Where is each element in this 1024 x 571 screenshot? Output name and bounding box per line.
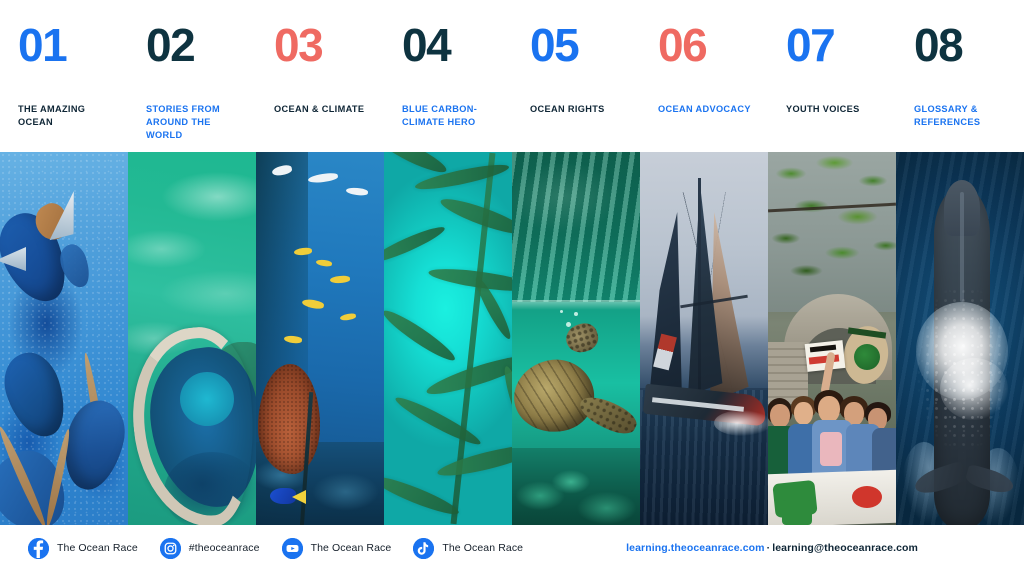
chapter-number-06: 06: [658, 22, 768, 68]
protester-shirt: [820, 432, 842, 466]
social-link-instagram[interactable]: #theoceanrace: [160, 538, 260, 559]
chapter-label-07: YOUTH VOICES: [786, 103, 890, 116]
turtle-flipper-texture: [575, 390, 640, 440]
chapter-image-coral-reef-fish[interactable]: [256, 152, 384, 525]
bubble-shape: [566, 322, 571, 327]
chapter-image-tropical-fish-underwater[interactable]: [0, 152, 128, 525]
chapter-label-04: BLUE CARBON-CLIMATE HERO: [402, 103, 506, 129]
learning-email-link[interactable]: learning@theoceanrace.com: [772, 542, 918, 554]
protester-face: [794, 402, 813, 425]
fish-shape: [330, 275, 350, 283]
chapter-column-08[interactable]: 08 GLOSSARY & REFERENCES: [896, 0, 1024, 152]
facebook-icon[interactable]: [28, 538, 49, 559]
chapter-label-05: OCEAN RIGHTS: [530, 103, 634, 116]
fish-shape: [340, 313, 357, 322]
chapter-label-01: THE AMAZING OCEAN: [18, 103, 122, 129]
social-handle-facebook: The Ocean Race: [57, 542, 138, 554]
chapter-image-humpback-whale-aerial[interactable]: [896, 152, 1024, 525]
chapter-image-strip: [0, 152, 1024, 525]
fish-shape: [346, 187, 369, 196]
chapter-number-04: 04: [402, 22, 512, 68]
chapter-number-05: 05: [530, 22, 640, 68]
protester-face: [770, 404, 790, 428]
kelp-frond-shape: [384, 471, 461, 519]
chapter-column-05[interactable]: 05 OCEAN RIGHTS: [512, 0, 640, 152]
water-surface-texture: [512, 152, 640, 302]
fish-shape: [270, 488, 296, 504]
chapter-label-02: STORIES FROM AROUND THE WORLD: [146, 103, 250, 142]
kelp-frond-shape: [438, 193, 512, 240]
social-link-youtube[interactable]: The Ocean Race: [282, 538, 392, 559]
fish-shape: [294, 247, 313, 256]
chapter-image-kelp-forest[interactable]: [384, 152, 512, 525]
social-handle-youtube: The Ocean Race: [311, 542, 392, 554]
chapter-column-06[interactable]: 06 OCEAN ADVOCACY: [640, 0, 768, 152]
sail-shape: [648, 212, 682, 408]
kelp-frond-shape: [384, 222, 447, 266]
chapter-image-aerial-coastal-lagoon[interactable]: [128, 152, 256, 525]
tree-foliage: [768, 152, 896, 332]
kelp-frond-shape: [392, 392, 483, 449]
mast-shape: [698, 178, 701, 408]
chapter-number-01: 01: [18, 22, 128, 68]
social-link-tiktok[interactable]: The Ocean Race: [413, 538, 523, 559]
chapter-label-08: GLOSSARY & REFERENCES: [914, 103, 1018, 129]
chapter-column-02[interactable]: 02 STORIES FROM AROUND THE WORLD: [128, 0, 256, 152]
kelp-frond-shape: [384, 152, 450, 178]
fish-shape: [316, 259, 333, 267]
contact-info: learning.theoceanrace.com·learning@theoc…: [626, 542, 1024, 554]
bubble-shape: [574, 312, 578, 316]
foam-texture: [896, 152, 1024, 525]
chapter-number-02: 02: [146, 22, 256, 68]
kelp-frond-shape: [427, 265, 512, 296]
learning-site-link[interactable]: learning.theoceanrace.com: [626, 542, 764, 554]
bow-spray: [714, 410, 768, 436]
kelp-frond-shape: [435, 440, 512, 482]
chapter-image-racing-sailboat[interactable]: [640, 152, 768, 525]
chapter-number-07: 07: [786, 22, 896, 68]
tiktok-icon[interactable]: [413, 538, 434, 559]
protester-face: [818, 396, 840, 423]
chapter-column-03[interactable]: 03 OCEAN & CLIMATE: [256, 0, 384, 152]
youtube-icon[interactable]: [282, 538, 303, 559]
stone-wall-shape: [768, 342, 808, 404]
turtle-shell-texture: [512, 354, 600, 439]
chapter-image-youth-climate-protest[interactable]: [768, 152, 896, 525]
social-links-group: The Ocean Race #theoceanrace: [0, 538, 523, 559]
chapter-number-03: 03: [274, 22, 384, 68]
social-handle-instagram: #theoceanrace: [189, 542, 260, 554]
waterline: [512, 300, 640, 310]
banner-letter-shape: [782, 500, 812, 525]
fish-shape: [308, 172, 339, 184]
banner-letter-shape: [852, 486, 882, 508]
chapter-number-08: 08: [914, 22, 1024, 68]
chapter-image-sea-turtle-reef[interactable]: [512, 152, 640, 525]
chapter-column-07[interactable]: 07 YOUTH VOICES: [768, 0, 896, 152]
bubble-shape: [560, 310, 563, 313]
footer-bar: The Ocean Race #theoceanrace: [0, 525, 1024, 571]
chapter-header-row: 01 THE AMAZING OCEAN 02 STORIES FROM ARO…: [0, 0, 1024, 152]
chapter-column-01[interactable]: 01 THE AMAZING OCEAN: [0, 0, 128, 152]
chapter-label-06: OCEAN ADVOCACY: [658, 103, 762, 116]
social-handle-tiktok: The Ocean Race: [442, 542, 523, 554]
chapter-overview-page: 01 THE AMAZING OCEAN 02 STORIES FROM ARO…: [0, 0, 1024, 571]
instagram-icon[interactable]: [160, 538, 181, 559]
chapter-label-03: OCEAN & CLIMATE: [274, 103, 378, 116]
social-link-facebook[interactable]: The Ocean Race: [28, 538, 138, 559]
coral-bed-shape: [512, 448, 640, 525]
chapter-column-04[interactable]: 04 BLUE CARBON-CLIMATE HERO: [384, 0, 512, 152]
earth-logo-shape: [854, 344, 880, 370]
kelp-frond-shape: [384, 305, 459, 366]
